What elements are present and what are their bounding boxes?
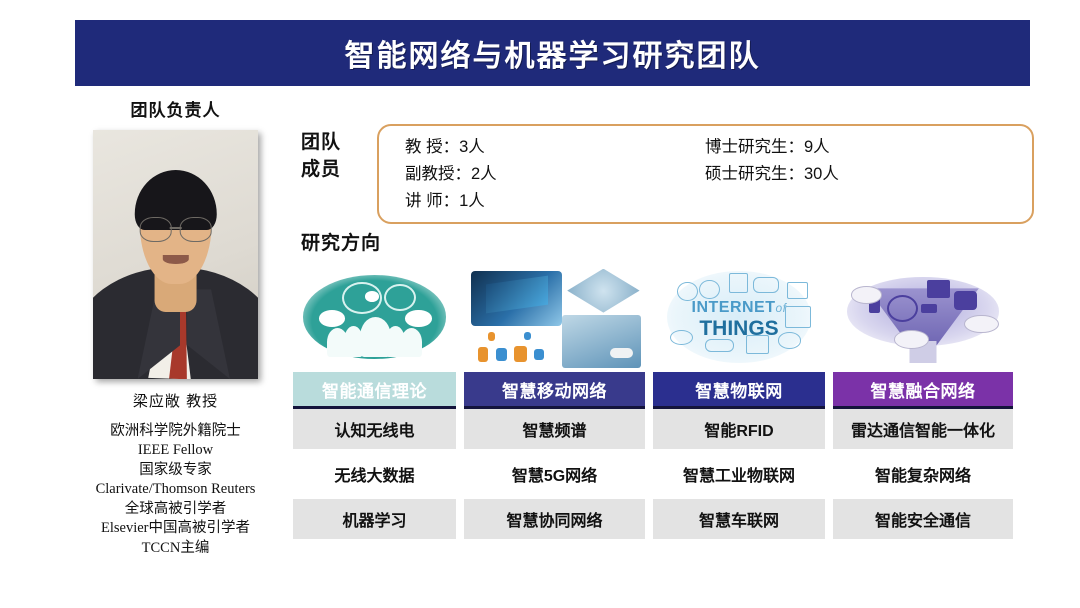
research-header-3[interactable]: 智慧物联网 (653, 372, 825, 409)
purple-funnel-cloud-illustration (833, 262, 1013, 372)
research-item: 雷达通信智能一体化 (833, 409, 1013, 449)
bar-chart-icon (927, 280, 950, 299)
iot-text-of-word: of (775, 301, 786, 315)
research-item: 智慧频谱 (464, 409, 645, 449)
team-leader-photo (93, 130, 258, 379)
research-item: 智能复杂网络 (833, 454, 1013, 494)
credential-item: Elsevier中国高被引学者 (96, 519, 256, 538)
research-item: 智慧5G网络 (464, 454, 645, 494)
research-item: 智慧协同网络 (464, 499, 645, 539)
iot-text-internet: INTERNETof (691, 299, 786, 317)
iot-text-internet-word: INTERNET (691, 299, 775, 316)
cloud-icon (524, 332, 531, 340)
photo-glasses (139, 217, 212, 239)
research-header-4[interactable]: 智慧融合网络 (833, 372, 1013, 409)
router-icon (534, 349, 544, 360)
member-count-row: 讲 师：1人 (405, 189, 705, 214)
person-silhouette (344, 326, 364, 357)
credential-item: 国家级专家 (96, 461, 256, 480)
person-silhouette (386, 326, 406, 357)
credentials-list: 欧洲科学院外籍院士 IEEE Fellow 国家级专家 Clarivate/Th… (96, 422, 256, 558)
team-leader-heading: 团队负责人 (131, 96, 221, 121)
credential-item: TCCN主编 (96, 539, 256, 558)
gear-icon (488, 332, 495, 340)
cloud-icon (964, 315, 998, 334)
phone-icon (478, 347, 488, 362)
research-item: 智能安全通信 (833, 499, 1013, 539)
vr-headset-icon (610, 348, 634, 359)
team-members-students-column: 博士研究生：9人 硕士研究生：30人 (705, 135, 839, 222)
research-column-4: 智慧融合网络 雷达通信智能一体化 智能复杂网络 智能安全通信 (833, 262, 1013, 544)
vr-user-photo (562, 315, 642, 368)
cloud-icon (894, 330, 928, 349)
member-count-row: 副教授：2人 (405, 162, 705, 187)
research-header-2[interactable]: 智慧移动网络 (464, 372, 645, 409)
plane-icon (787, 282, 808, 299)
team-members-box: 教 授：3人 副教授：2人 讲 师：1人 博士研究生：9人 硕士研究生：30人 (377, 124, 1034, 224)
credential-item: Clarivate/Thomson Reuters (96, 480, 256, 499)
database-icon (954, 291, 977, 311)
internet-of-things-illustration: INTERNETof THINGS (653, 262, 825, 372)
chat-bubble-icon (405, 310, 431, 327)
laptop-icon (921, 304, 937, 313)
research-item: 无线大数据 (293, 454, 456, 494)
car-icon (753, 277, 779, 292)
tablet-icon (496, 348, 507, 361)
research-item: 智能RFID (653, 409, 825, 449)
research-column-2: 智慧移动网络 智慧频谱 智慧5G网络 智慧协同网络 (464, 262, 645, 544)
team-members-label-line1: 团队 (301, 130, 341, 157)
microwave-icon (785, 306, 811, 328)
research-column-1: 智能通信理论 认知无线电 无线大数据 机器学习 (293, 262, 456, 544)
team-leader-section: 团队负责人 梁应敞 教授 欧洲科学院外籍院士 IEEE Fellow 国家级专家… (58, 96, 293, 596)
research-item: 机器学习 (293, 499, 456, 539)
photo-mouth (162, 255, 188, 265)
team-leader-name: 梁应敞 教授 (133, 390, 218, 411)
network-grid-photo (567, 269, 639, 313)
phone-icon (729, 273, 748, 293)
research-directions-grid: 智能通信理论 认知无线电 无线大数据 机器学习 (293, 262, 1009, 544)
credential-item: 全球高被引学者 (96, 500, 256, 519)
social-network-illustration (293, 262, 456, 372)
iot-text-things: THINGS (699, 317, 778, 341)
laptop-screen (486, 275, 548, 312)
globe-icon (887, 295, 918, 322)
page-title: 智能网络与机器学习研究团队 (345, 31, 761, 75)
research-item: 智慧车联网 (653, 499, 825, 539)
research-item: 认知无线电 (293, 409, 456, 449)
mobile-devices-vr-collage (464, 262, 645, 372)
research-header-1[interactable]: 智能通信理论 (293, 372, 456, 409)
chat-bubble-icon (319, 310, 345, 327)
member-count-row: 硕士研究生：30人 (705, 162, 839, 187)
credential-item: IEEE Fellow (96, 441, 256, 460)
device-icon-row (475, 330, 555, 367)
credential-item: 欧洲科学院外籍院士 (96, 422, 256, 441)
member-count-row: 教 授：3人 (405, 135, 705, 160)
team-members-label-line2: 成员 (301, 157, 341, 184)
member-count-row: 博士研究生：9人 (705, 135, 839, 160)
team-members-label: 团队 成员 (301, 130, 341, 184)
title-bar: 智能网络与机器学习研究团队 (75, 20, 1030, 86)
network-ring (384, 284, 416, 311)
research-directions-label: 研究方向 (301, 228, 381, 255)
team-members-staff-column: 教 授：3人 副教授：2人 讲 师：1人 (405, 135, 705, 222)
monitor-icon (514, 346, 528, 362)
laptop-photo (471, 271, 562, 326)
chat-bubble-icon (365, 291, 380, 302)
timer-icon (778, 332, 801, 348)
slide-root: 智能网络与机器学习研究团队 团队负责人 梁应敞 教授 欧洲科学院外籍院士 IEE… (0, 0, 1080, 608)
cloud-icon (851, 286, 882, 303)
research-item: 智慧工业物联网 (653, 454, 825, 494)
research-column-3: INTERNETof THINGS 智慧物联网 智能RFID 智慧工业物联网 智… (653, 262, 825, 544)
team-members-grid: 教 授：3人 副教授：2人 讲 师：1人 博士研究生：9人 硕士研究生：30人 (379, 126, 1032, 222)
